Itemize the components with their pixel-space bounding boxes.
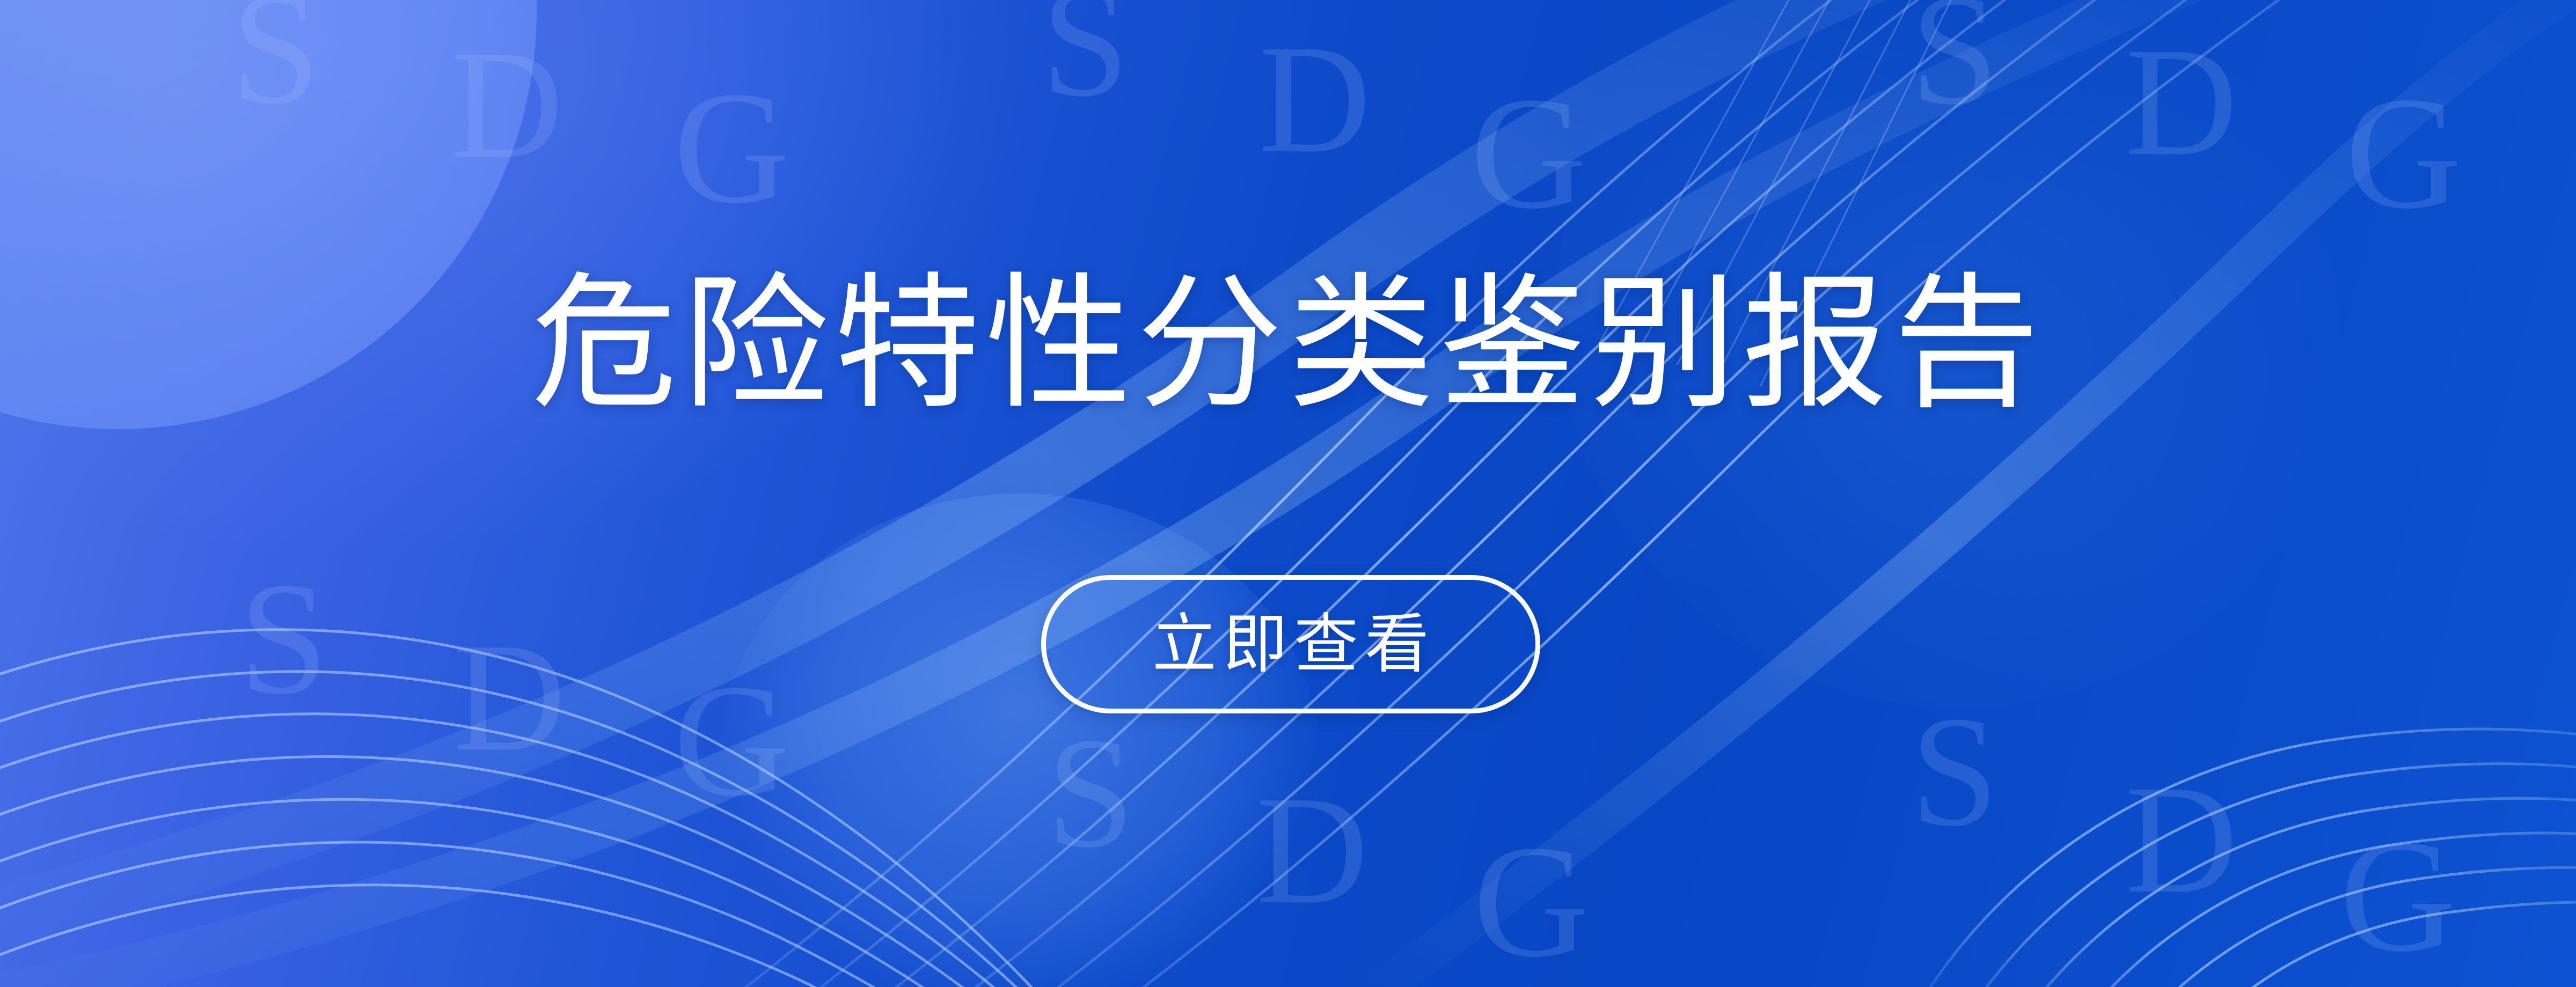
watermark-letter-d: D <box>453 620 566 775</box>
watermark-letter-d: D <box>2125 24 2237 180</box>
watermark-letter-g: G <box>2340 815 2456 976</box>
watermark-letter-d: D <box>2125 762 2237 917</box>
watermark-letter-s: S <box>1911 692 1999 850</box>
watermark-letter-s: S <box>231 0 320 129</box>
watermark-letter-s: S <box>1046 713 1135 872</box>
watermark-letter-g: G <box>674 660 790 821</box>
glow-circle-behind-cta <box>719 494 1320 987</box>
diagonal-sweep-center <box>633 0 2458 987</box>
view-now-button[interactable]: 立即查看 <box>1041 575 1540 713</box>
watermark-letter-s: S <box>1911 0 1999 129</box>
soft-band-group <box>0 0 2576 987</box>
watermark-letter-s: S <box>1041 0 1129 121</box>
watermark-letter-d: D <box>1256 772 1368 928</box>
watermark-letter-d: D <box>1258 21 1371 177</box>
banner-root: SDGSDGSDGSDGSDGSDG 危险特性分类鉴别报告 立即查看 <box>0 0 2576 987</box>
watermark-letter-g: G <box>674 67 790 228</box>
watermark-letter-g: G <box>1473 821 1590 982</box>
watermark-letter-g: G <box>2345 72 2462 233</box>
watermark-letters-layer: SDGSDGSDGSDGSDGSDG <box>0 0 2576 987</box>
page-title: 危险特性分类鉴别报告 <box>0 271 2576 417</box>
watermark-letter-d: D <box>451 27 563 182</box>
watermark-letter-g: G <box>1470 72 1587 233</box>
watermark-letter-s: S <box>239 558 328 719</box>
view-now-button-label: 立即查看 <box>1146 612 1436 676</box>
decorative-lines-layer <box>0 0 2576 987</box>
arc-fan-bottom-right <box>1911 729 2576 987</box>
